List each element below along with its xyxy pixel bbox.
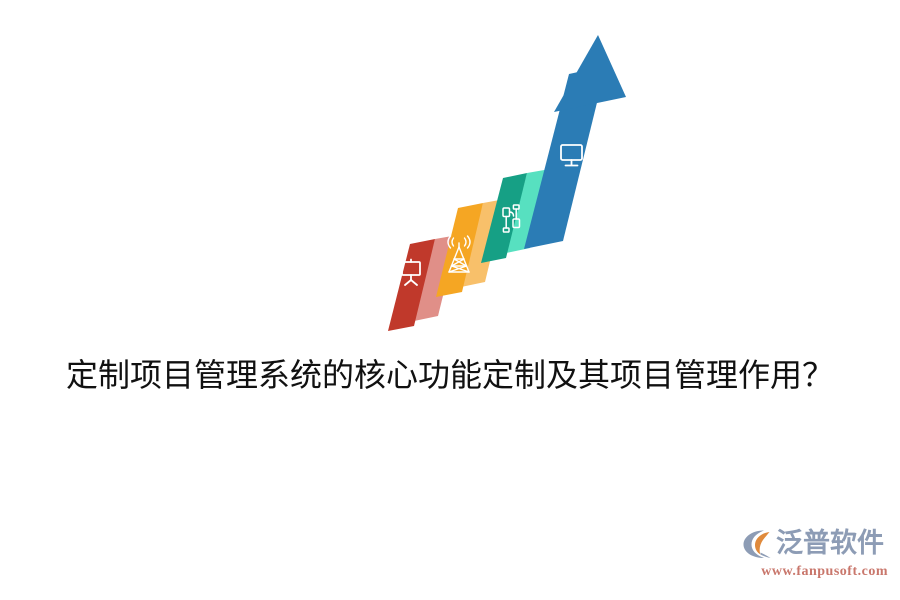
- brand-wordmark: 泛普软件: [776, 527, 884, 561]
- fanpu-swoosh-logo-icon: [740, 527, 774, 561]
- arrow-blue: [524, 35, 626, 249]
- arrow-head: [554, 35, 626, 112]
- page-title: 定制项目管理系统的核心功能定制及其项目管理作用？: [0, 352, 900, 398]
- page-root: 定制项目管理系统的核心功能定制及其项目管理作用？ 泛普软件 www.fanpus…: [0, 0, 900, 600]
- hero-illustration: [0, 0, 900, 345]
- brand-logo-row: 泛普软件: [740, 526, 888, 562]
- brand-url: www.fanpusoft.com: [740, 563, 888, 581]
- brand-logo[interactable]: 泛普软件 www.fanpusoft.com: [740, 526, 888, 582]
